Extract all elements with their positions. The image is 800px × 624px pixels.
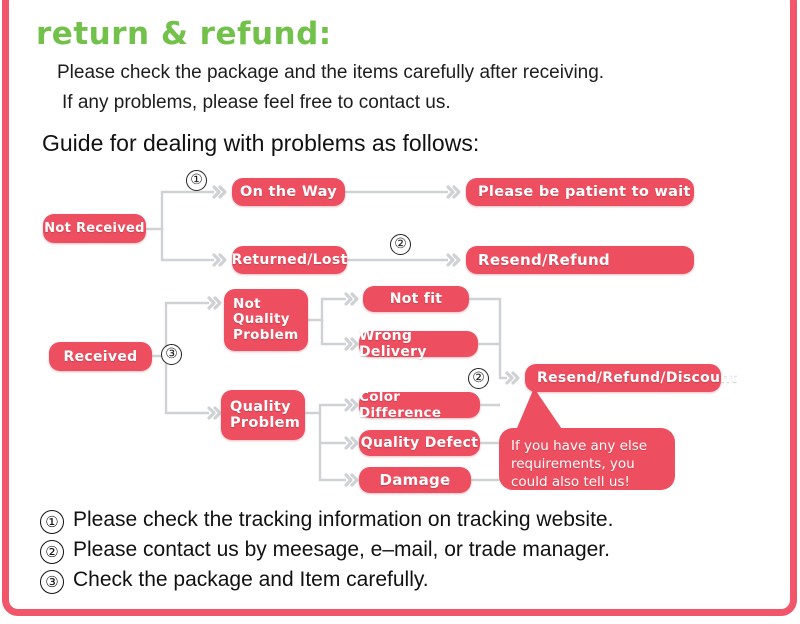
footer-item: ③ Check the package and Item carefully. <box>40 568 613 594</box>
node-not-fit[interactable]: Not fit <box>363 286 469 312</box>
node-resend-refund-discount[interactable]: Resend/Refund/Discount <box>525 364 721 392</box>
marker-three-received: ③ <box>161 344 182 365</box>
footer-number-2: ② <box>40 540 64 564</box>
return-refund-infographic: return & refund: Please check the packag… <box>0 0 800 624</box>
node-not-quality-problem[interactable]: Not Quality Problem <box>224 289 308 351</box>
footer-text-1: Please check the tracking information on… <box>73 508 613 532</box>
node-on-the-way[interactable]: On the Way <box>232 178 345 206</box>
footer-text-3: Check the package and Item carefully. <box>73 568 429 592</box>
footer-number-3: ③ <box>40 570 64 594</box>
footer-item: ② Please contact us by meesage, e–mail, … <box>40 538 613 564</box>
node-received[interactable]: Received <box>49 342 152 371</box>
lead-text-line-1: Please check the package and the items c… <box>57 62 604 84</box>
page-title: return & refund: <box>36 16 332 52</box>
lead-text-line-2: If any problems, please feel free to con… <box>62 92 451 114</box>
footer-text-2: Please contact us by meesage, e–mail, or… <box>73 538 610 562</box>
footer-number-1: ① <box>40 510 64 534</box>
node-quality-problem[interactable]: Quality Problem <box>221 390 305 440</box>
node-please-be-patient[interactable]: Please be patient to wait <box>466 178 694 206</box>
node-quality-defect[interactable]: Quality Defect <box>359 430 480 456</box>
node-wrong-delivery[interactable]: Wrong Delivery <box>359 331 478 357</box>
node-damage[interactable]: Damage <box>359 467 471 493</box>
marker-one-top: ① <box>186 170 207 191</box>
node-color-difference[interactable]: Color Difference <box>359 392 480 418</box>
footer-instructions: ① Please check the tracking information … <box>40 508 613 598</box>
node-not-received[interactable]: Not Received <box>43 214 146 243</box>
marker-two-top: ② <box>390 234 411 255</box>
footer-item: ① Please check the tracking information … <box>40 508 613 534</box>
problem-flowchart: Not Received On the Way Returned/Lost Pl… <box>0 170 800 500</box>
speech-bubble: If you have any else requirements, you c… <box>499 428 675 490</box>
guide-heading: Guide for dealing with problems as follo… <box>42 130 479 157</box>
node-returned-lost[interactable]: Returned/Lost <box>232 246 347 274</box>
marker-two-right: ② <box>468 368 489 389</box>
node-resend-refund[interactable]: Resend/Refund <box>466 246 694 274</box>
